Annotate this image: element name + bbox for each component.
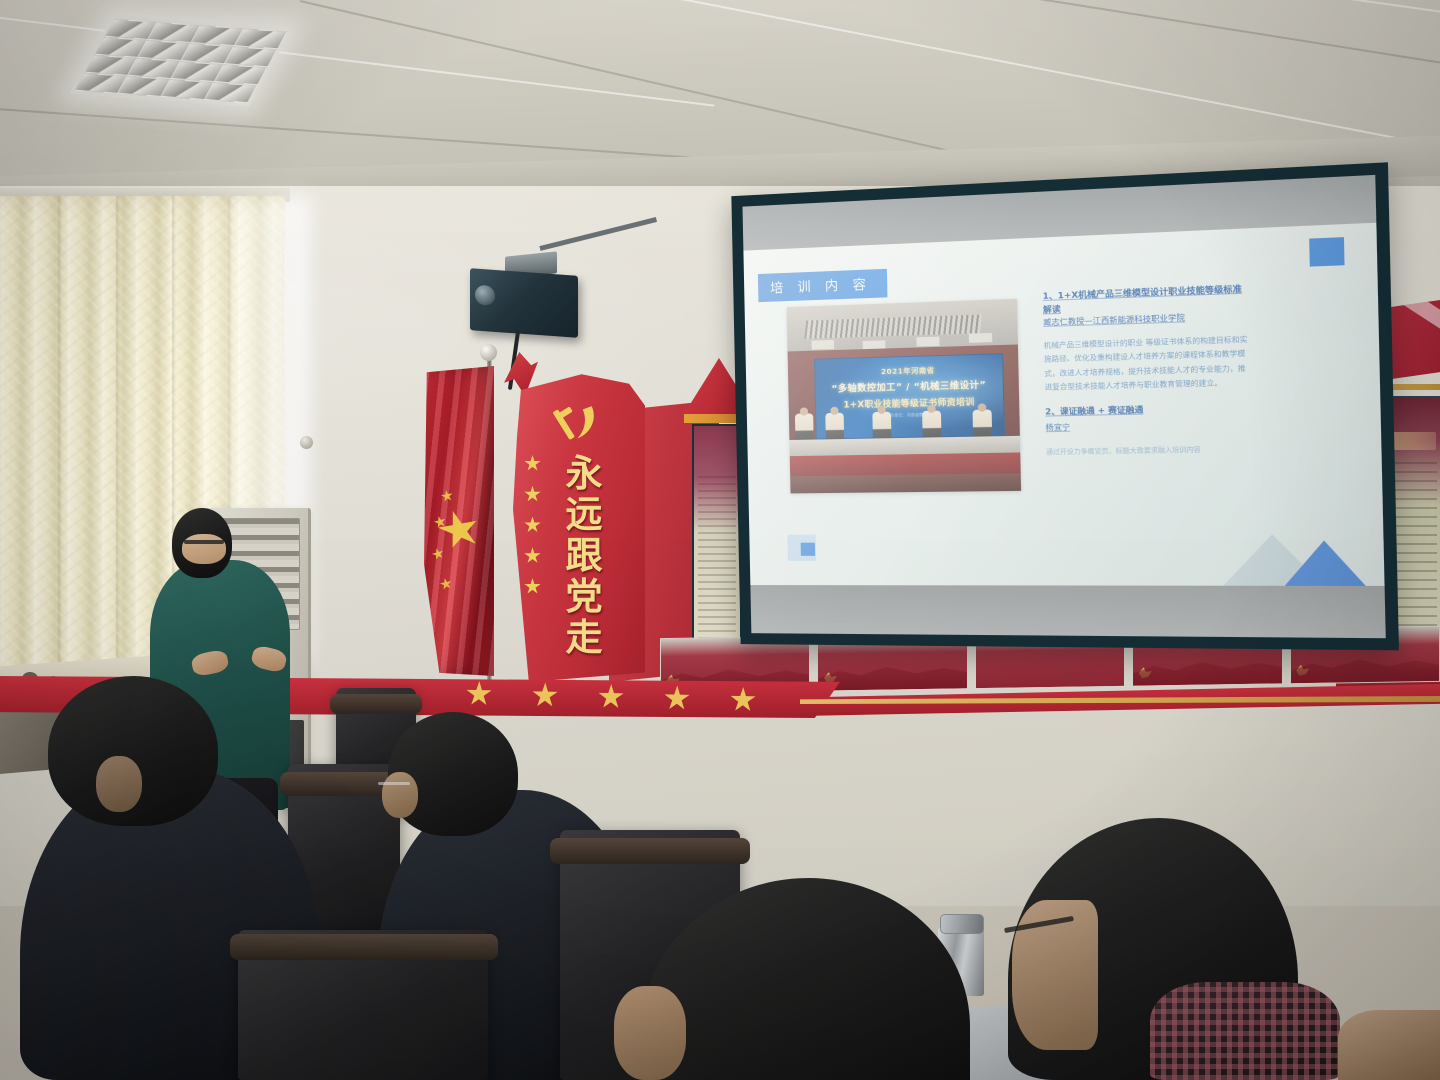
slide-section-banner: 培 训 内 容: [758, 269, 888, 302]
banner-star-icon: [524, 547, 541, 564]
wall-poster-narrow: [692, 424, 742, 663]
photo-foreground-floor: [790, 473, 1021, 493]
audience-ear-back-left: [96, 756, 142, 812]
projection-letterbox-bottom: [750, 585, 1385, 638]
panel-emblem-icon: [1295, 663, 1311, 679]
thermos-cap[interactable]: [940, 914, 984, 934]
foreground-right-checked-shirt: [1150, 982, 1340, 1080]
banner-char-2: 远: [566, 496, 603, 533]
banner-char-3: 跟: [566, 537, 603, 574]
slide-paragraph: 机械产品三维模型设计的职业 等级证书体系的构建目标和实施路径、优化及重构建设人才…: [1044, 333, 1253, 396]
projection-screen: 培 训 内 容 2021年河南省 “多轴数控加工” / “机械三维设计” 1+X…: [731, 162, 1399, 650]
foreground-left-hand: [614, 986, 686, 1080]
photo-scene: 永 远 跟 党 走 员: [0, 0, 1440, 1080]
presenter-face: [182, 534, 226, 564]
audience-face-mid-left: [382, 772, 418, 818]
presentation-slide: 培 训 内 容 2021年河南省 “多轴数控加工” / “机械三维设计” 1+X…: [743, 223, 1384, 586]
band-star-icon: [598, 684, 625, 711]
banner-star-icon: [524, 517, 541, 534]
chair[interactable]: [238, 930, 488, 1080]
banner-char-5: 走: [566, 619, 603, 656]
hammer-and-sickle-icon: [548, 396, 604, 452]
ceiling-projector: [470, 268, 578, 338]
presenter-glasses-icon: [184, 540, 224, 544]
photo-ceiling-panel: [812, 340, 835, 350]
slide-heading-2: 2、课证融通 + 赛证融通: [1045, 402, 1253, 420]
slide-inner-photo: 2021年河南省 “多轴数控加工” / “机械三维设计” 1+X职业技能等级证书…: [787, 299, 1021, 494]
party-banner-slogan: 永 远 跟 党 走: [560, 455, 608, 656]
banner-star-icon: [524, 455, 541, 472]
projection-surface: 培 训 内 容 2021年河南省 “多轴数控加工” / “机械三维设计” 1+X…: [742, 175, 1385, 638]
slide-decoration-square-top-right: [1309, 237, 1344, 266]
poster-text-lines: [698, 476, 736, 655]
led-line-3: 1+X职业技能等级证书师资培训: [816, 395, 1003, 412]
slide-presenter-2: 杨宜宁: [1045, 418, 1253, 435]
banner-star-icon: [524, 578, 541, 595]
band-star-icon: [730, 687, 757, 714]
banner-char-1: 永: [566, 455, 603, 492]
led-line-2: “多轴数控加工” / “机械三维设计”: [815, 377, 1002, 395]
banner-star-icon: [524, 486, 541, 503]
audience-glasses-icon: [378, 782, 410, 785]
slide-footnote: 通过开设力争概览页，标题大致要求融入培训内容: [1046, 443, 1254, 457]
slide-text-body: 1、1+X机械产品三维模型设计职业技能等级标准解读 臧志仁教授—江西新能源科技职…: [1043, 282, 1255, 458]
party-banner-stars: [524, 455, 544, 595]
projector-lens-icon: [475, 285, 495, 306]
panel-emblem-icon: [1137, 665, 1153, 681]
flag-pole-finial: [480, 344, 497, 361]
foreground-far-right-person: [1338, 1010, 1440, 1080]
wall-hook: [300, 436, 313, 449]
photo-ceiling-panel: [916, 337, 939, 347]
band-star-icon: [664, 685, 691, 712]
led-line-1: 2021年河南省: [815, 364, 1002, 379]
banner-char-4: 党: [566, 578, 603, 615]
photo-ceiling-panel: [969, 333, 993, 343]
band-star-icon: [532, 682, 559, 709]
slide-decoration-square-bottom-left: [787, 535, 816, 561]
band-star-icon: [466, 681, 493, 708]
